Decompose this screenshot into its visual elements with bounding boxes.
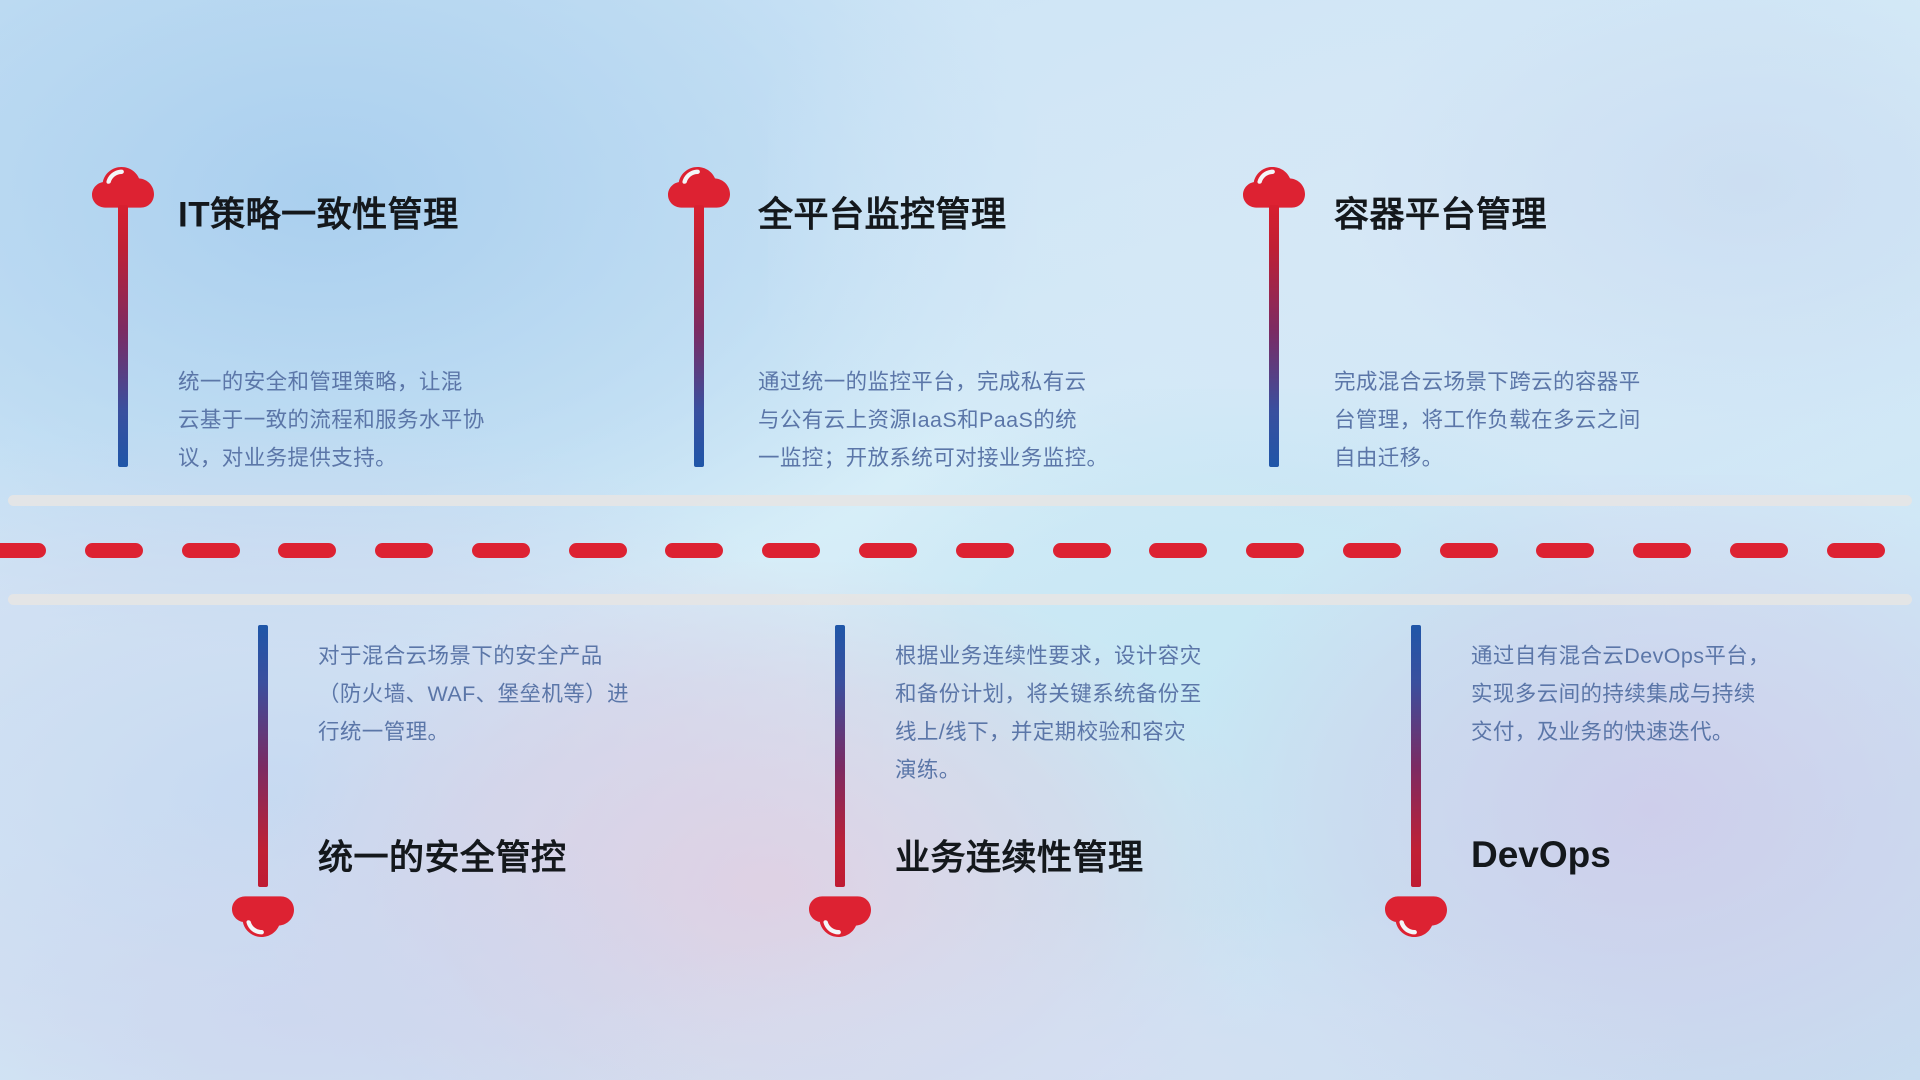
bottom-column-2-title: 业务连续性管理 — [895, 830, 1144, 881]
cloud-icon — [1385, 896, 1447, 944]
dash-segment — [1730, 543, 1788, 558]
cloud-icon — [809, 896, 871, 944]
dash-segment — [569, 543, 627, 558]
rail-top — [8, 495, 1912, 506]
red-dashed-divider — [0, 543, 1920, 558]
bottom-column-2-body: 根据业务连续性要求，设计容灾 和备份计划，将关键系统备份至 线上/线下，并定期校… — [895, 637, 1335, 789]
dash-segment — [0, 543, 46, 558]
bottom-column-1-title: 统一的安全管控 — [318, 830, 567, 881]
dash-segment — [665, 543, 723, 558]
connector-stem — [1411, 625, 1421, 887]
connector-stem — [694, 205, 704, 467]
dash-segment — [1440, 543, 1498, 558]
cloud-icon — [668, 160, 730, 208]
cloud-icon — [232, 896, 294, 944]
top-column-2-title: 全平台监控管理 — [758, 187, 1007, 238]
top-column-1-body: 统一的安全和管理策略，让混 云基于一致的流程和服务水平协 议，对业务提供支持。 — [178, 363, 608, 477]
dash-segment — [472, 543, 530, 558]
dash-segment — [1536, 543, 1594, 558]
dash-segment — [182, 543, 240, 558]
top-column-2-body: 通过统一的监控平台，完成私有云 与公有云上资源IaaS和PaaS的统 一监控；开… — [758, 363, 1218, 477]
dash-segment — [762, 543, 820, 558]
connector-stem — [1269, 205, 1279, 467]
dash-segment — [85, 543, 143, 558]
dash-segment — [1149, 543, 1207, 558]
dash-segment — [1343, 543, 1401, 558]
bottom-column-3-title: DevOps — [1471, 834, 1611, 876]
dash-segment — [278, 543, 336, 558]
top-column-1-title: IT策略一致性管理 — [178, 187, 459, 238]
top-column-3-body: 完成混合云场景下跨云的容器平 台管理，将工作负载在多云之间 自由迁移。 — [1334, 363, 1774, 477]
connector-stem — [258, 625, 268, 887]
bottom-column-1-body: 对于混合云场景下的安全产品 （防火墙、WAF、堡垒机等）进 行统一管理。 — [318, 637, 748, 751]
connector-stem — [835, 625, 845, 887]
rail-bottom — [8, 594, 1912, 605]
cloud-icon — [92, 160, 154, 208]
dash-segment — [1246, 543, 1304, 558]
dash-segment — [956, 543, 1014, 558]
bottom-column-3-body: 通过自有混合云DevOps平台， 实现多云间的持续集成与持续 交付，及业务的快速… — [1471, 637, 1891, 751]
cloud-icon — [1243, 160, 1305, 208]
dash-segment — [859, 543, 917, 558]
dash-segment — [1827, 543, 1885, 558]
connector-stem — [118, 205, 128, 467]
dash-segment — [375, 543, 433, 558]
dash-segment — [1633, 543, 1691, 558]
top-column-3-title: 容器平台管理 — [1334, 187, 1547, 238]
dash-segment — [1053, 543, 1111, 558]
